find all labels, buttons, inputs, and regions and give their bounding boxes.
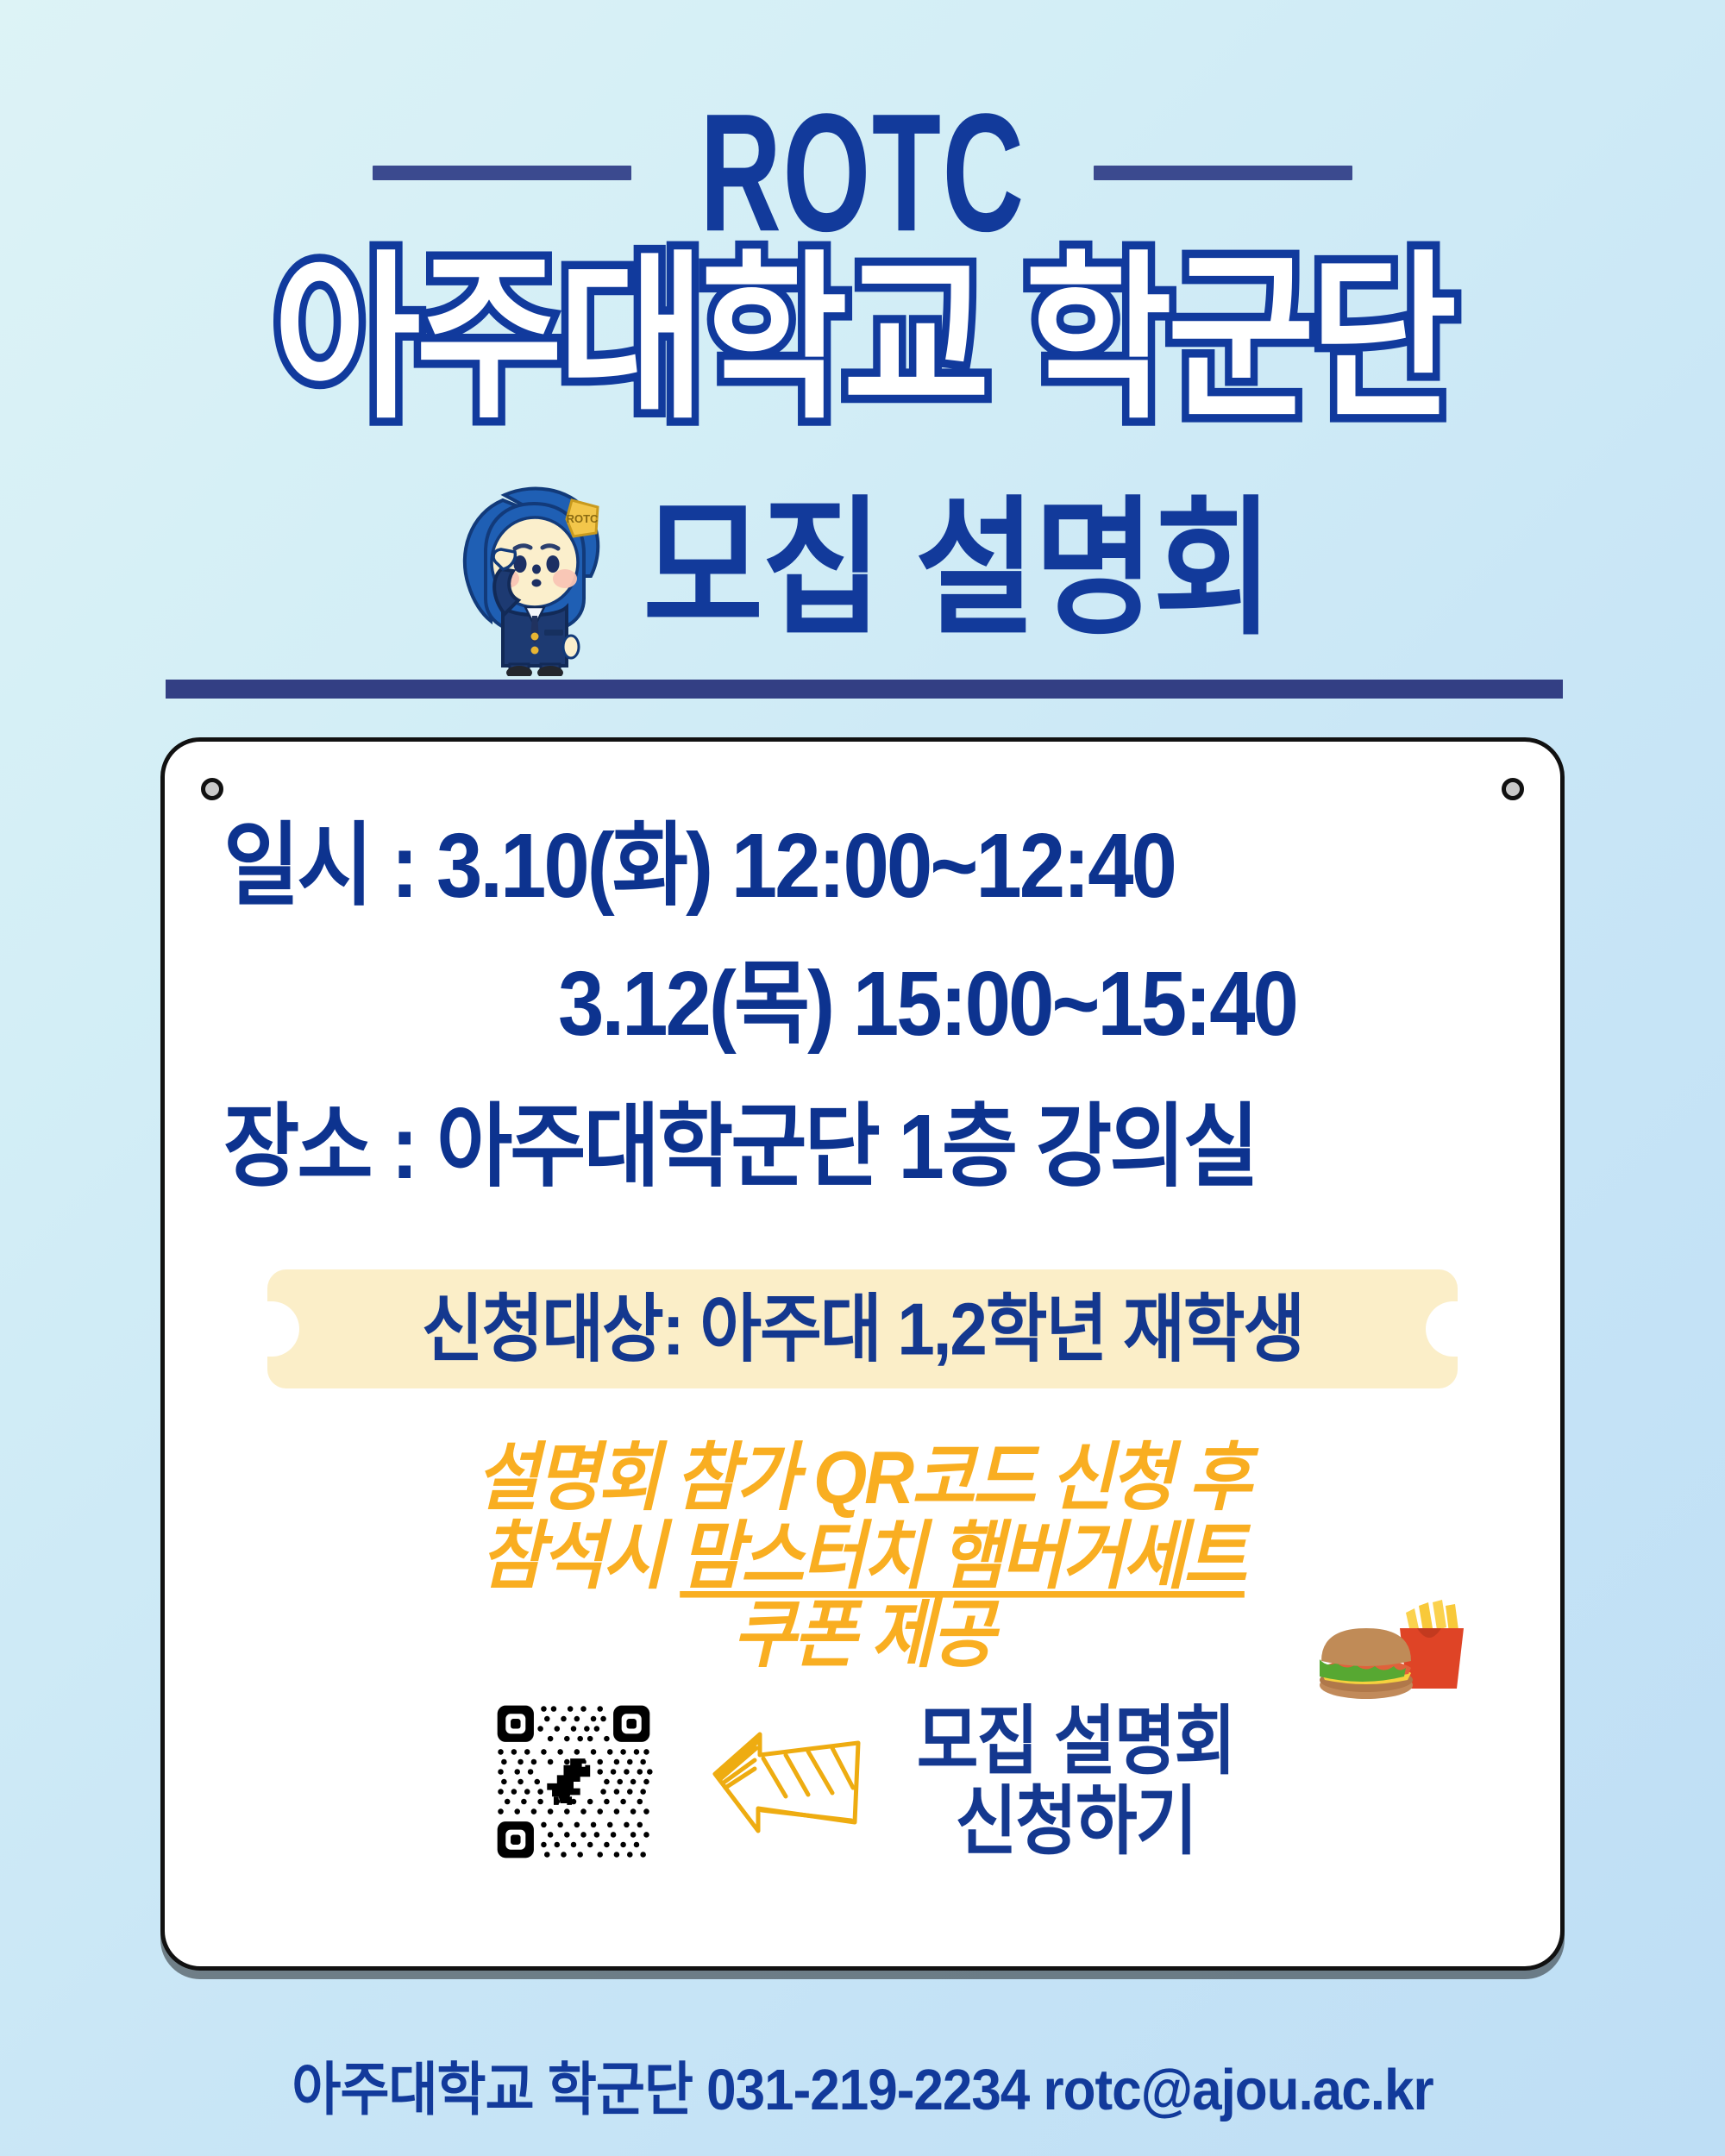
eligibility-ticket: 신청대상: 아주대 1,2학년 재학생 xyxy=(267,1269,1458,1388)
cta-line-2: 신청하기 xyxy=(917,1782,1234,1862)
eyebrow-row: ROTC xyxy=(0,95,1725,250)
headline-secondary-row: ROTC xyxy=(0,470,1725,668)
rule-right xyxy=(1094,166,1352,180)
rule-left xyxy=(373,166,631,180)
cta-line-1: 모집 설명회 xyxy=(917,1702,1234,1782)
signup-row: 모집 설명회 신청하기 xyxy=(165,1699,1560,1865)
qr-code[interactable] xyxy=(491,1699,656,1865)
header-divider xyxy=(166,680,1563,699)
headline-primary: 아주대학교 학군단 xyxy=(0,250,1725,429)
signup-cta-text[interactable]: 모집 설명회 신청하기 xyxy=(917,1702,1234,1861)
info-card-content: 일시 : 3.10(화) 12:00~12:40 3.12(목) 15:00~1… xyxy=(165,742,1560,1966)
promo-line-2-prefix: 참석시 xyxy=(480,1514,680,1597)
left-arrow-icon xyxy=(706,1720,867,1843)
info-card: 일시 : 3.10(화) 12:00~12:40 3.12(목) 15:00~1… xyxy=(160,737,1565,1971)
poster-root: ROTC 아주대학교 학군단 ROTC xyxy=(0,0,1725,2156)
event-date-line-1: 일시 : 3.10(화) 12:00~12:40 xyxy=(223,820,1509,913)
promo-line-1: 설명회 참가 QR코드 신청 후 xyxy=(216,1435,1509,1520)
poster-header: ROTC 아주대학교 학군단 ROTC xyxy=(0,0,1725,716)
svg-text:ROTC: ROTC xyxy=(567,512,599,525)
cadet-mascot-icon: ROTC xyxy=(453,469,617,676)
event-location-line: 장소 : 아주대학군단 1층 강의실 xyxy=(223,1101,1509,1194)
promo-block: 설명회 참가 QR코드 신청 후 참석시 맘스터치 햄버거세트 쿠폰 제공 xyxy=(216,1438,1509,1675)
footer-contact: 아주대학교 학군단 031-219-2234 rotc@ajou.ac.kr xyxy=(0,2042,1725,2126)
burger-fries-icon xyxy=(1304,1583,1490,1713)
headline-secondary: 모집 설명회 xyxy=(643,494,1271,643)
promo-line-2-underlined: 맘스터치 햄버거세트 xyxy=(680,1514,1245,1597)
eligibility-text: 신청대상: 아주대 1,2학년 재학생 xyxy=(422,1292,1304,1366)
event-date-line-2: 3.12(목) 15:00~15:40 xyxy=(216,958,1509,1051)
eyebrow-title: ROTC xyxy=(699,89,1025,257)
